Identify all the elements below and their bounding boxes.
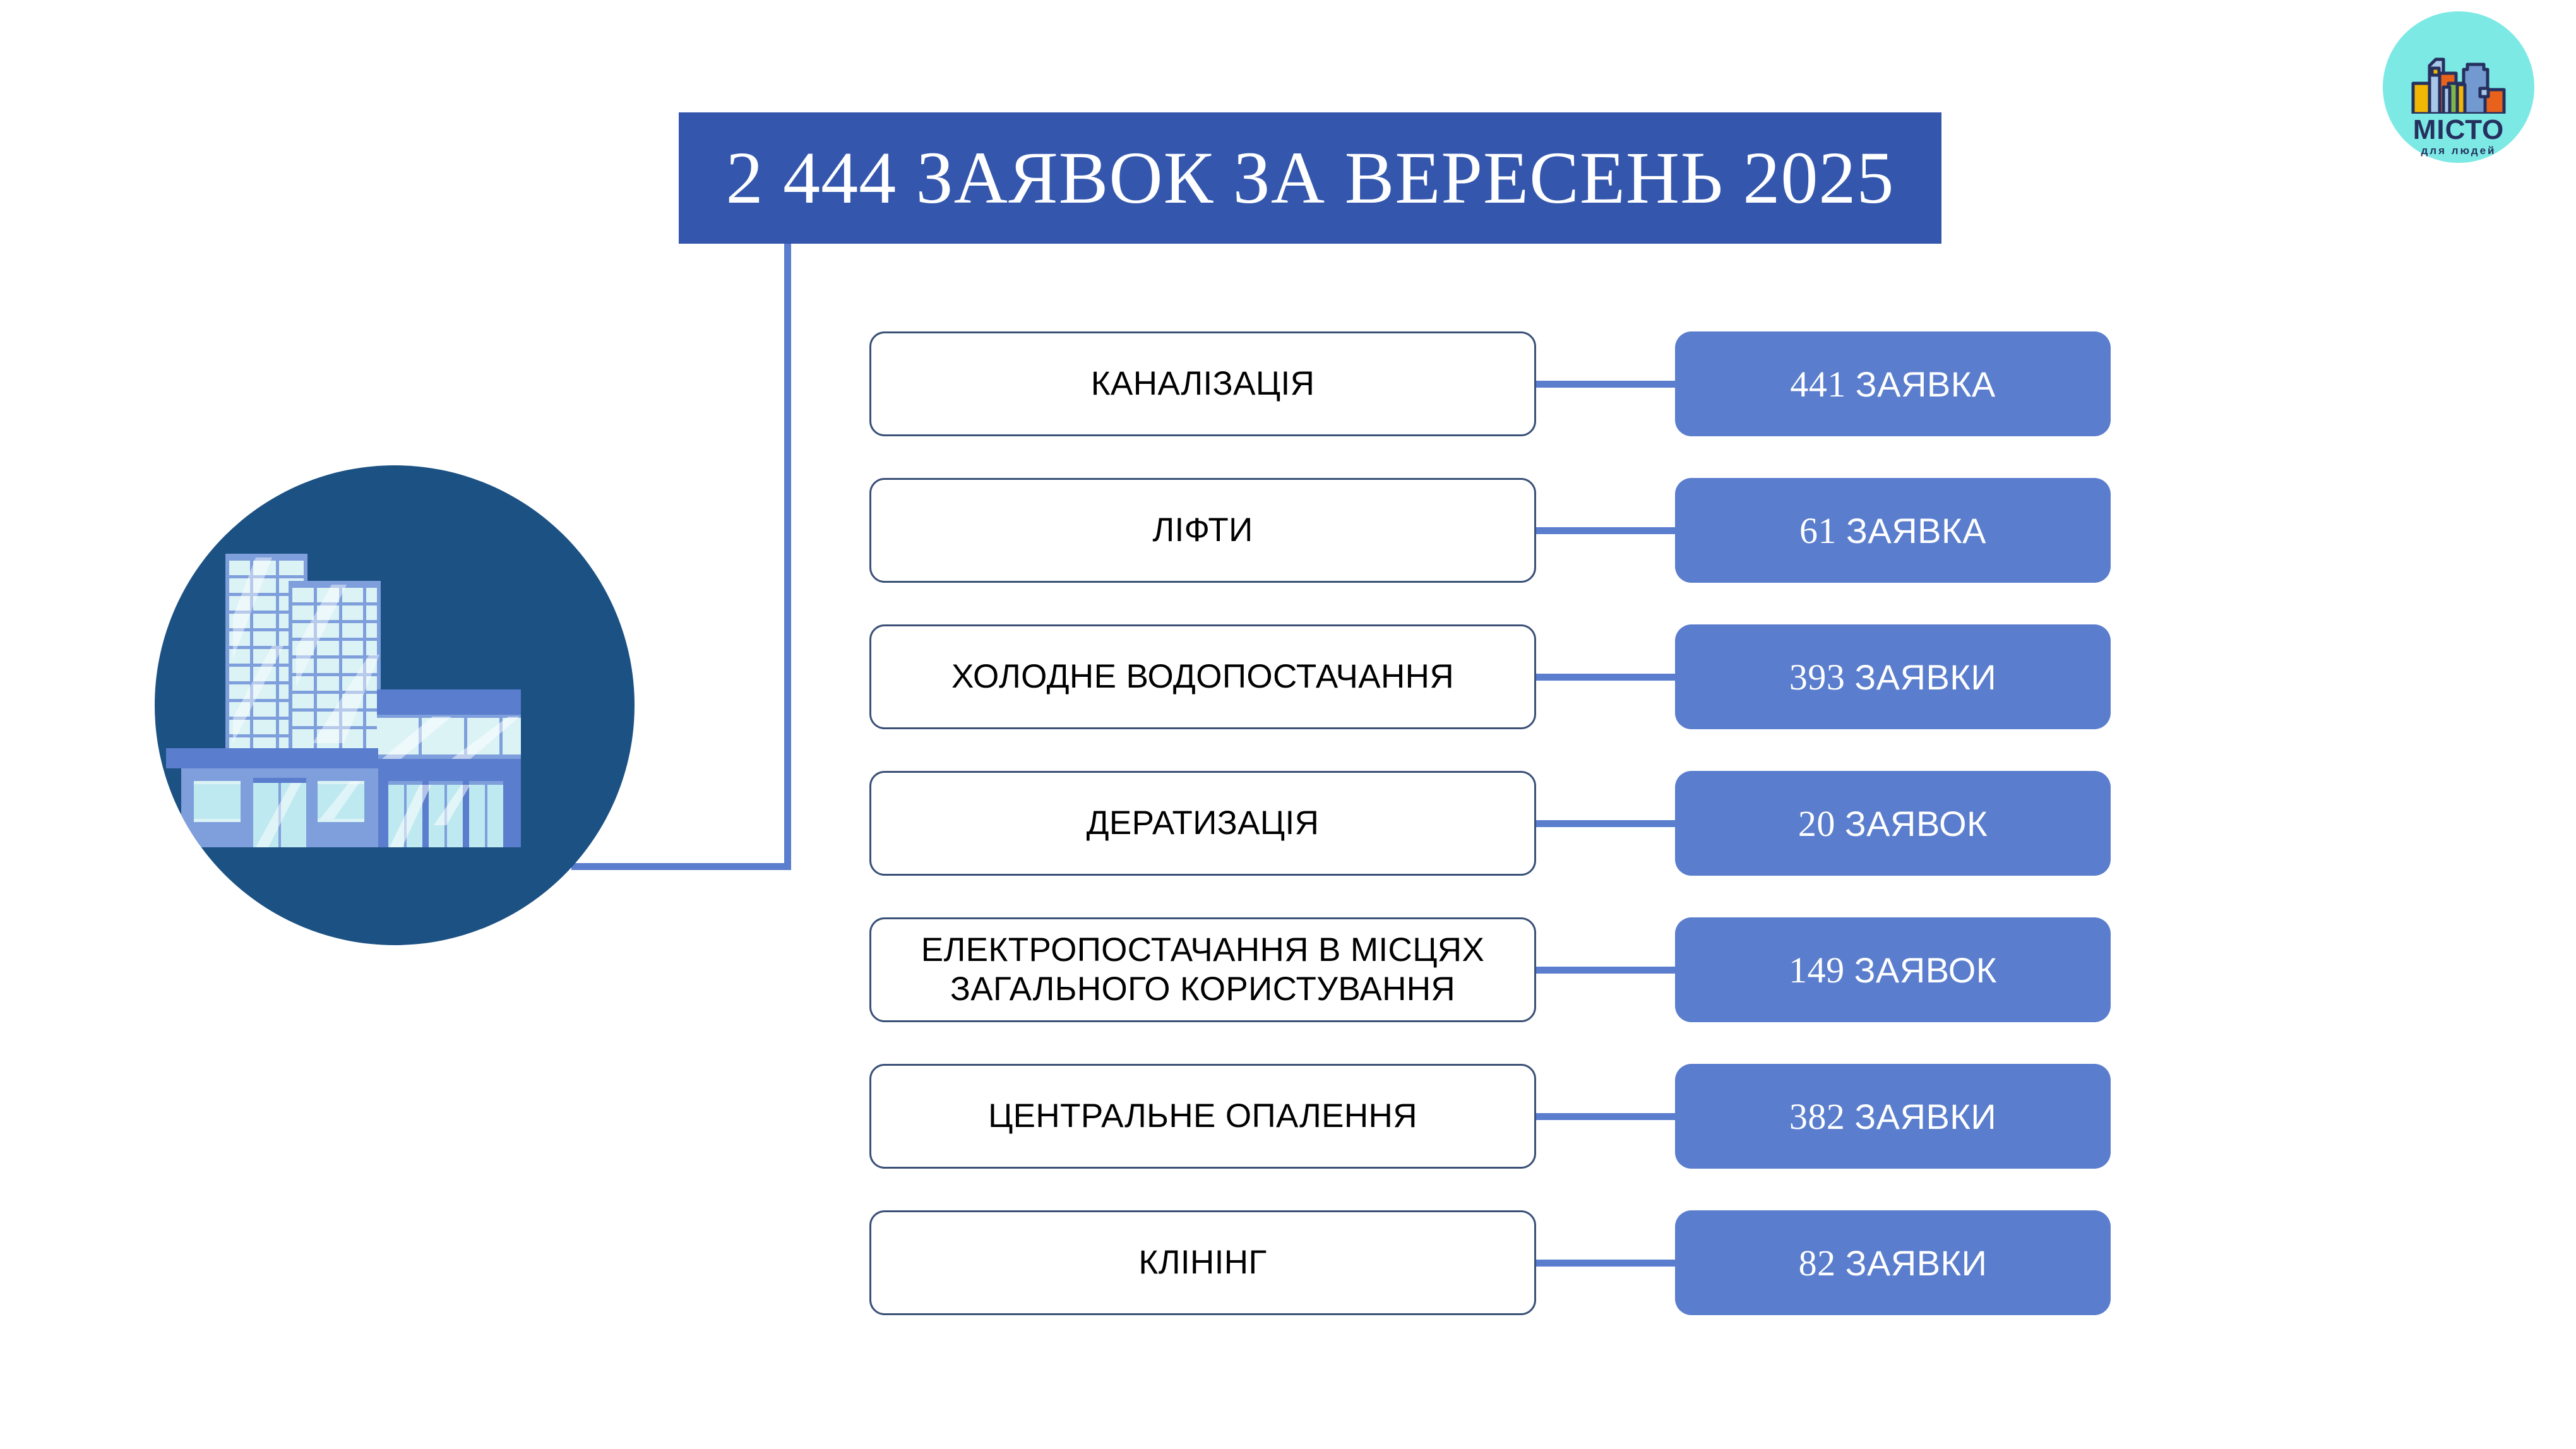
request-count-unit: ЗАЯВКИ: [1854, 1097, 1996, 1136]
category-label-box[interactable]: ЕЛЕКТРОПОСТАЧАННЯ В МІСЦЯХЗАГАЛЬНОГО КОР…: [869, 917, 1536, 1022]
request-count-number: 149: [1789, 950, 1845, 991]
request-count-box[interactable]: 441 ЗАЯВКА: [1675, 331, 2111, 436]
request-count-text: 82 ЗАЯВКИ: [1799, 1242, 1988, 1284]
category-label-text: ДЕРАТИЗАЦІЯ: [1087, 804, 1320, 843]
infographic-slide: 2 444 ЗАЯВОК ЗА ВЕРЕСЕНЬ 2025: [0, 0, 2576, 1449]
category-label-box[interactable]: КЛІНІНГ: [869, 1210, 1536, 1315]
request-count-text: 393 ЗАЯВКИ: [1789, 656, 1996, 698]
request-count-box[interactable]: 61 ЗАЯВКА: [1675, 478, 2111, 583]
category-label-box[interactable]: ДЕРАТИЗАЦІЯ: [869, 771, 1536, 876]
category-label-text: ХОЛОДНЕ ВОДОПОСТАЧАННЯ: [951, 657, 1454, 696]
category-label-box[interactable]: ХОЛОДНЕ ВОДОПОСТАЧАННЯ: [869, 624, 1536, 729]
request-count-text: 441 ЗАЯВКА: [1790, 363, 1995, 405]
request-count-text: 20 ЗАЯВОК: [1798, 802, 1988, 845]
request-count-unit: ЗАЯВОК: [1854, 950, 1997, 990]
row-connector-line: [1536, 967, 1680, 974]
logo: МІСТО для людей: [2383, 11, 2534, 163]
row-connector-line: [1536, 1113, 1680, 1120]
request-count-box[interactable]: 382 ЗАЯВКИ: [1675, 1064, 2111, 1169]
request-count-unit: ЗАЯВКА: [1856, 364, 1996, 404]
category-row: ЛІФТИ61 ЗАЯВКА: [0, 478, 2576, 583]
request-count-unit: ЗАЯВКИ: [1846, 1243, 1988, 1283]
row-connector-line: [1536, 381, 1680, 388]
logo-wordmark: МІСТО: [2383, 116, 2534, 144]
request-count-text: 149 ЗАЯВОК: [1789, 949, 1997, 991]
category-row: КЛІНІНГ82 ЗАЯВКИ: [0, 1210, 2576, 1315]
request-count-unit: ЗАЯВОК: [1845, 804, 1988, 844]
request-count-text: 61 ЗАЯВКА: [1799, 510, 1986, 552]
request-count-number: 82: [1799, 1243, 1836, 1284]
request-count-number: 382: [1789, 1096, 1846, 1137]
city-skyline-icon: [2411, 51, 2507, 114]
request-count-box[interactable]: 82 ЗАЯВКИ: [1675, 1210, 2111, 1315]
request-count-unit: ЗАЯВКА: [1846, 511, 1986, 551]
category-label-line: ЗАГАЛЬНОГО КОРИСТУВАННЯ: [921, 970, 1484, 1009]
row-connector-line: [1536, 527, 1680, 534]
category-label-text: ЕЛЕКТРОПОСТАЧАННЯ В МІСЦЯХЗАГАЛЬНОГО КОР…: [921, 931, 1484, 1009]
request-count-number: 393: [1789, 657, 1846, 698]
category-label-line: ЕЛЕКТРОПОСТАЧАННЯ В МІСЦЯХ: [921, 931, 1484, 970]
logo-tagline: для людей: [2383, 145, 2534, 156]
row-connector-line: [1536, 674, 1680, 681]
row-connector-line: [1536, 820, 1680, 827]
category-label-text: КАНАЛІЗАЦІЯ: [1091, 364, 1315, 403]
request-count-number: 61: [1799, 510, 1837, 551]
request-count-box[interactable]: 20 ЗАЯВОК: [1675, 771, 2111, 876]
category-label-box[interactable]: ЛІФТИ: [869, 478, 1536, 583]
request-count-box[interactable]: 393 ЗАЯВКИ: [1675, 624, 2111, 729]
request-count-number: 441: [1790, 364, 1846, 405]
category-row: ЦЕНТРАЛЬНЕ ОПАЛЕННЯ382 ЗАЯВКИ: [0, 1064, 2576, 1169]
category-row: ЕЛЕКТРОПОСТАЧАННЯ В МІСЦЯХЗАГАЛЬНОГО КОР…: [0, 917, 2576, 1022]
category-row: ДЕРАТИЗАЦІЯ20 ЗАЯВОК: [0, 771, 2576, 876]
category-row: ХОЛОДНЕ ВОДОПОСТАЧАННЯ393 ЗАЯВКИ: [0, 624, 2576, 729]
category-label-box[interactable]: ЦЕНТРАЛЬНЕ ОПАЛЕННЯ: [869, 1064, 1536, 1169]
request-count-text: 382 ЗАЯВКИ: [1789, 1095, 1996, 1138]
page-title: 2 444 ЗАЯВОК ЗА ВЕРЕСЕНЬ 2025: [726, 141, 1895, 215]
category-label-text: ЛІФТИ: [1152, 511, 1253, 550]
category-label-text: ЦЕНТРАЛЬНЕ ОПАЛЕННЯ: [988, 1097, 1417, 1136]
request-count-number: 20: [1798, 803, 1835, 844]
category-label-text: КЛІНІНГ: [1138, 1243, 1267, 1282]
category-row: КАНАЛІЗАЦІЯ441 ЗАЯВКА: [0, 331, 2576, 436]
row-connector-line: [1536, 1260, 1680, 1267]
request-count-box[interactable]: 149 ЗАЯВОК: [1675, 917, 2111, 1022]
request-count-unit: ЗАЯВКИ: [1854, 657, 1996, 697]
title-banner: 2 444 ЗАЯВОК ЗА ВЕРЕСЕНЬ 2025: [679, 112, 1941, 244]
category-label-box[interactable]: КАНАЛІЗАЦІЯ: [869, 331, 1536, 436]
